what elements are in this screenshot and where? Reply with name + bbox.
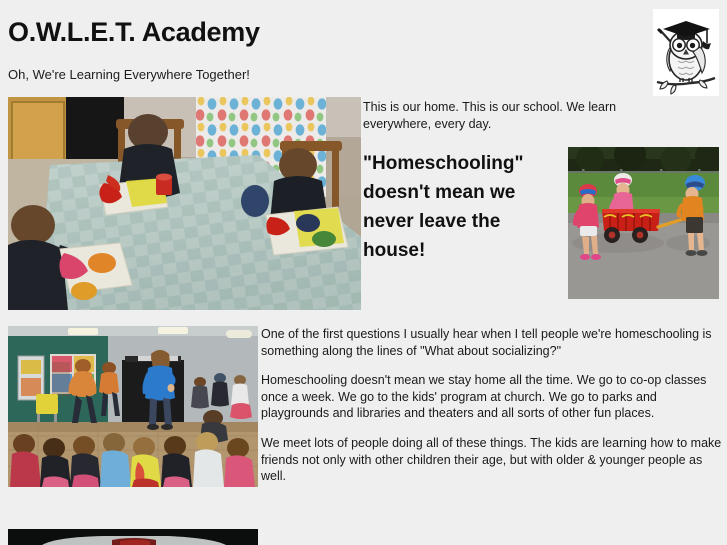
intro-paragraph: This is our home. This is our school. We… (363, 99, 631, 132)
photo-children-painting-at-table (8, 97, 361, 310)
body-paragraph-2: Homeschooling doesn't mean we stay home … (261, 372, 723, 422)
pull-quote-heading: "Homeschooling" doesn't mean we never le… (363, 149, 559, 265)
photo-bottom-partial (8, 529, 258, 545)
photo-children-with-red-wagon (568, 147, 719, 299)
photo-coop-class-group (8, 326, 258, 487)
owl-graduate-icon (653, 9, 719, 96)
body-paragraph-3: We meet lots of people doing all of thes… (261, 435, 723, 485)
body-paragraph-1: One of the first questions I usually hea… (261, 326, 723, 359)
page-title: O.W.L.E.T. Academy (8, 16, 260, 48)
site-tagline: Oh, We're Learning Everywhere Together! (8, 66, 250, 84)
page-root: O.W.L.E.T. Academy Oh, We're Learning Ev… (0, 0, 727, 545)
